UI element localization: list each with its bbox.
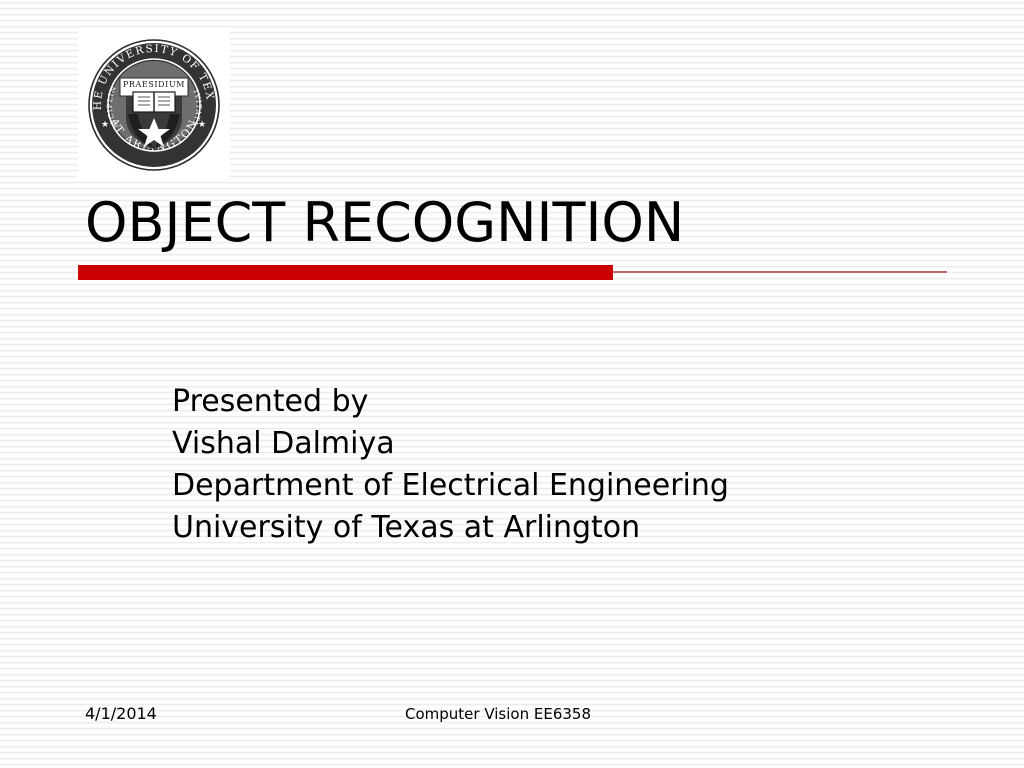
slide-footer: 4/1/2014 Computer Vision EE6358 (0, 703, 1024, 727)
page-title: OBJECT RECOGNITION (85, 192, 965, 254)
presenter-block: Presented by Vishal Dalmiya Department o… (172, 381, 932, 549)
presenter-line-university: University of Texas at Arlington (172, 507, 932, 549)
svg-text:★: ★ (198, 120, 206, 130)
footer-date: 4/1/2014 (85, 703, 157, 725)
presentation-slide: THE UNIVERSITY OF TEXAS AT ARLINGTON DIS… (0, 0, 1024, 768)
presenter-line-department: Department of Electrical Engineering (172, 465, 932, 507)
uta-seal-logo: THE UNIVERSITY OF TEXAS AT ARLINGTON DIS… (78, 30, 230, 180)
presenter-line-name: Vishal Dalmiya (172, 423, 932, 465)
title-underline-accent (78, 265, 613, 280)
presenter-line-label: Presented by (172, 381, 932, 423)
svg-text:★: ★ (101, 120, 109, 130)
footer-course-label: Computer Vision EE6358 (405, 703, 591, 725)
uta-seal-svg: THE UNIVERSITY OF TEXAS AT ARLINGTON DIS… (78, 30, 230, 180)
svg-text:PRAESIDIUM: PRAESIDIUM (123, 80, 185, 89)
